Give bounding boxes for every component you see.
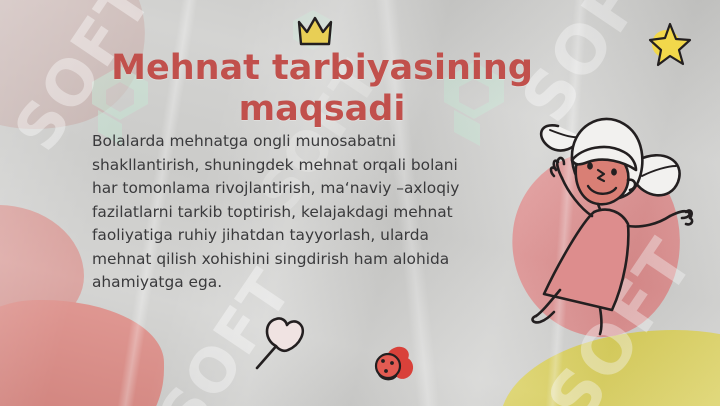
slide-body-text: Bolalarda mehnatga ongli munosabatni sha…: [92, 130, 464, 295]
slide-title: Mehnat tarbiyasining maqsadi: [72, 48, 572, 130]
slide-content: Mehnat tarbiyasining maqsadi Bolalarda m…: [0, 0, 720, 406]
slide-canvas: SOFT SOFT SOFT SOFT SOFT: [0, 0, 720, 406]
